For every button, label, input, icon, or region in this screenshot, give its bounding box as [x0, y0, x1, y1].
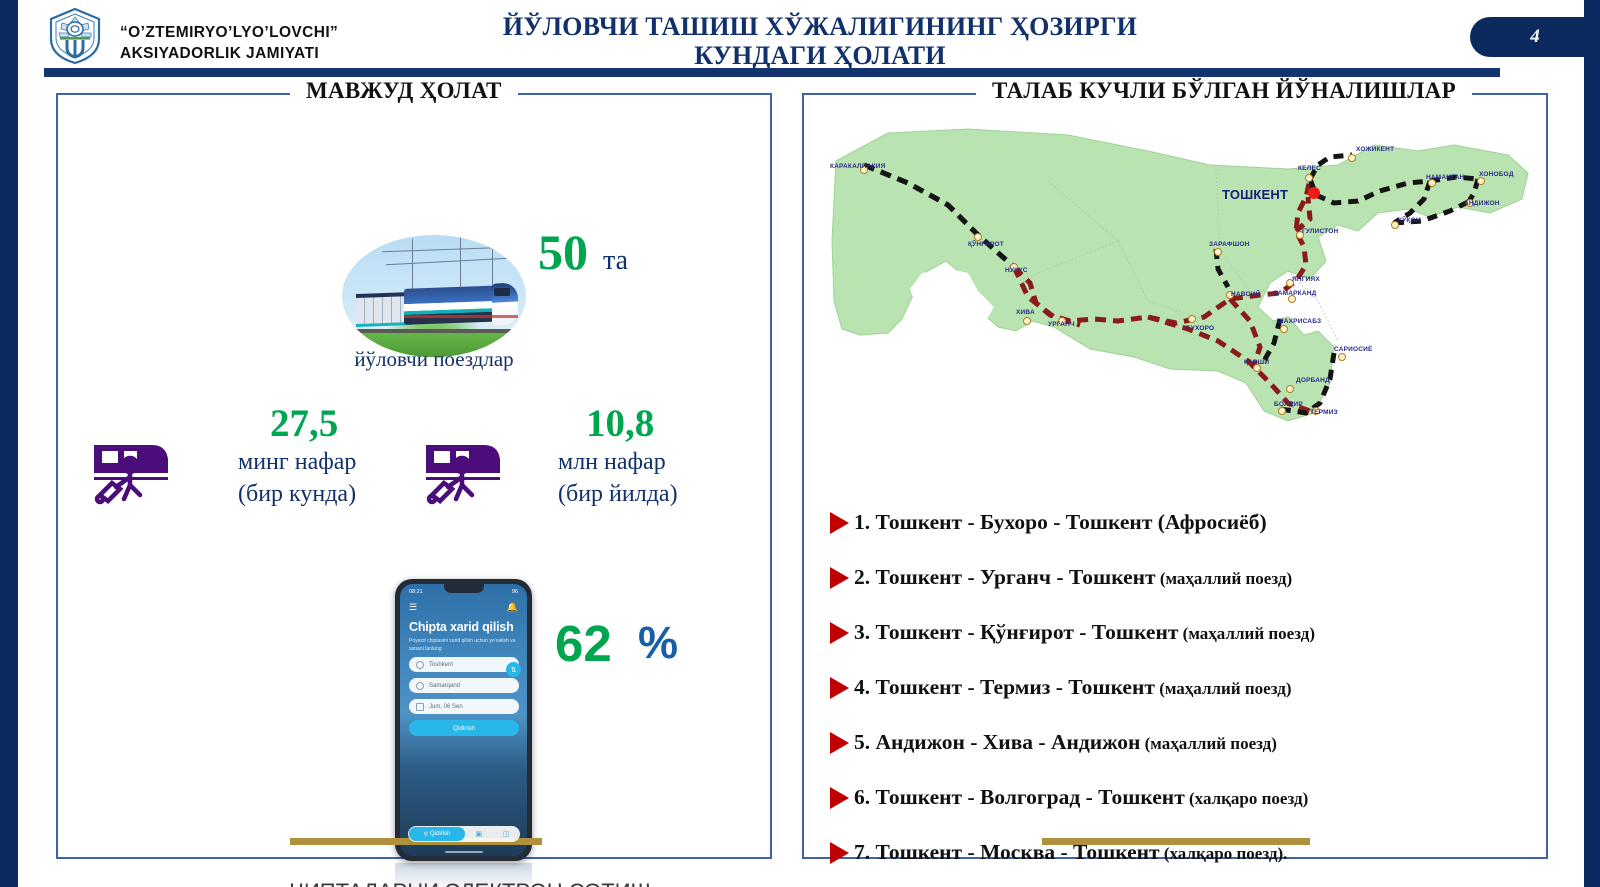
map-dot [1305, 174, 1313, 182]
right-edge-strip [1584, 0, 1600, 887]
map-label-city: БОЛДИР [1274, 401, 1303, 408]
route-note: (маҳаллий поезд) [1155, 679, 1292, 698]
app-title: Chipta xarid qilish [409, 620, 527, 634]
header-divider [44, 68, 1500, 77]
route-item[interactable]: 3. Тошкент - Қўнғирот - Тошкент (маҳалли… [830, 605, 1530, 660]
current-status-panel: МАВЖУД ҲОЛАТ 50 та йўловчи поездлар [56, 93, 772, 859]
triangle-bullet-icon [830, 567, 849, 589]
hamburger-menu-icon[interactable]: ☰ [409, 602, 417, 613]
phone-notch [444, 584, 484, 593]
route-text: 6. Тошкент - Волгоград - Тошкент (халқар… [854, 785, 1308, 810]
map-dot [1214, 248, 1222, 256]
route-text: 2. Тошкент - Урганч - Тошкент (маҳаллий … [854, 565, 1292, 590]
route-note: (маҳаллий поезд) [1178, 624, 1315, 643]
briefcase-icon[interactable]: ◫ [493, 830, 521, 838]
map-label-city: КЕЛЕС [1298, 165, 1321, 172]
map-label-city: БУХОРО [1186, 325, 1214, 332]
right-panel-gold-bar [1042, 838, 1310, 845]
capital-dot-tashkent [1308, 187, 1320, 199]
route-number: 7. [854, 840, 870, 864]
stat-yearly-line2: (бир йилда) [558, 481, 678, 508]
route-number: 3. [854, 620, 870, 644]
date-field[interactable]: Jum, 06 Sen [409, 699, 519, 714]
map-dot [974, 233, 982, 241]
map-dot [1477, 177, 1485, 185]
map-label-city: ЯНГИЯХ [1292, 276, 1320, 283]
map-label-city: САРИОСИЁ [1334, 346, 1373, 353]
route-text: 5. Андижон - Хива - Андижон (маҳаллий по… [854, 730, 1277, 755]
route-note: (маҳаллий поезд) [1156, 569, 1293, 588]
train-count-caption: йўловчи поездлар [284, 347, 584, 372]
route-label: Тошкент - Термиз - Тошкент [870, 675, 1155, 699]
mobile-app-mockup: 08:21 96 ☰ 🔔 Chipta xarid qilish Poyezd … [395, 579, 532, 861]
route-number: 1. [854, 510, 870, 534]
origin-field[interactable]: Toshkent [409, 657, 519, 672]
route-label: Андижон - Хива - Андижон [870, 730, 1140, 754]
map-label-city: ҚАРШИ [1244, 359, 1269, 366]
page-title-line-2: КУНДАГИ ҲОЛАТИ [440, 41, 1200, 70]
map-label-city: ҚЎНҒИРОТ [968, 241, 1004, 248]
high-demand-routes-panel: ТАЛАБ КУЧЛИ БЎЛГАН ЙЎНАЛИШЛАР [802, 93, 1548, 859]
map-dot [1280, 325, 1288, 333]
map-label-city: ГУЛИСТОН [1302, 228, 1338, 235]
route-text: 1. Тошкент - Бухоро - Тошкент (Афросиёб) [854, 510, 1267, 535]
left-panel-title: МАВЖУД ҲОЛАТ [290, 78, 518, 104]
org-line-1: “O’ZTEMIRYO’LYO’LOVCHI” [120, 22, 338, 43]
map-label-city: НАМАНГАН [1426, 174, 1464, 181]
calendar-icon [416, 703, 424, 711]
tab-search[interactable]: ⚲ Qidirish [409, 827, 465, 841]
page-number-badge: 4 [1470, 17, 1600, 57]
origin-value: Toshkent [429, 662, 453, 668]
electronic-sales-caption: ЧИПТАЛАРНИ ЭЛЕКТРОН СОТИШ КЎРСАТКИЧЛАРИ … [164, 877, 776, 887]
route-note: (маҳаллий поезд) [1140, 734, 1277, 753]
route-label: Тошкент - Қўнғирот - Тошкент [870, 620, 1178, 644]
route-number: 5. [854, 730, 870, 754]
railway-shield-logo-icon [44, 6, 106, 66]
map-label-city: КАРАКАЛПАКИЯ [830, 163, 886, 170]
route-note: (халқаро поезд). [1160, 844, 1288, 863]
uzbekistan-railway-map: ТОШКЕНТ КАРАКАЛПАКИЯҚЎНҒИРОТНУКУСХИВАУРГ… [818, 121, 1532, 491]
slide: “O’ZTEMIRYO’LYO’LOVCHI” AKSIYADORLIK JAM… [0, 0, 1600, 887]
org-line-2: AKSIYADORLIK JAMIYATI [120, 43, 338, 64]
route-number: 6. [854, 785, 870, 809]
phone-screen: 08:21 96 ☰ 🔔 Chipta xarid qilish Poyezd … [400, 584, 527, 856]
destination-value: Samarqand [429, 683, 460, 689]
triangle-bullet-icon [830, 732, 849, 754]
location-pin-icon [416, 682, 424, 690]
map-label-city: ЗАРАФШОН [1209, 241, 1250, 248]
passenger-with-luggage-icon [418, 425, 510, 505]
left-edge-strip [0, 0, 18, 887]
search-icon: ⚲ [424, 831, 428, 838]
destination-field[interactable]: Samarqand [409, 678, 519, 693]
map-label-city: ХИВА [1016, 309, 1035, 316]
stat-daily-line2: (бир кунда) [238, 481, 356, 508]
route-item[interactable]: 4. Тошкент - Термиз - Тошкент (маҳаллий … [830, 660, 1530, 715]
electronic-sales-percent-symbol: % [638, 617, 678, 669]
status-time: 08:21 [409, 589, 423, 595]
bell-icon[interactable]: 🔔 [507, 602, 518, 613]
route-list: 1. Тошкент - Бухоро - Тошкент (Афросиёб)… [830, 495, 1530, 880]
map-label-city: ШАХРИСАБЗ [1277, 318, 1321, 325]
train-count-value: 50 [538, 223, 588, 281]
status-battery: 96 [512, 589, 518, 595]
organization-name: “O’ZTEMIRYO’LYO’LOVCHI” AKSIYADORLIK JAM… [120, 22, 338, 65]
slide-header: “O’ZTEMIRYO’LYO’LOVCHI” AKSIYADORLIK JAM… [0, 0, 1600, 72]
map-label-capital: ТОШКЕНТ [1222, 187, 1288, 202]
triangle-bullet-icon [830, 787, 849, 809]
map-label-city: ХОНОБОД [1479, 171, 1514, 178]
map-dot [1348, 154, 1356, 162]
map-dot [1278, 407, 1286, 415]
stat-yearly-value: 10,8 [586, 401, 654, 446]
stat-daily-line1: минг нафар [238, 449, 356, 476]
date-value: Jum, 06 Sen [429, 704, 463, 710]
triangle-bullet-icon [830, 622, 849, 644]
map-label-city: ҚЎҚОН [1398, 217, 1421, 224]
route-note: (халқаро поезд) [1185, 789, 1309, 808]
phone-bottom-nav: ⚲ Qidirish ▣ ◫ [408, 826, 520, 842]
location-pin-icon [416, 661, 424, 669]
map-label-city: САМАРКАНД [1273, 290, 1316, 297]
triangle-bullet-icon [830, 842, 849, 864]
route-label: Тошкент - Бухоро - Тошкент [870, 510, 1152, 534]
map-label-city: ХОЖИКЕНТ [1356, 146, 1394, 153]
caption-line-1: ЧИПТАЛАРНИ ЭЛЕКТРОН СОТИШ [164, 877, 776, 887]
stat-daily-value: 27,5 [270, 401, 338, 446]
ticket-icon[interactable]: ▣ [465, 830, 493, 838]
home-indicator [445, 851, 483, 853]
map-label-city: НУКУС [1005, 267, 1028, 274]
stat-yearly-line1: млн нафар [558, 449, 666, 476]
map-label-city: ТЕРМИЗ [1310, 409, 1338, 416]
passenger-with-luggage-icon [86, 425, 178, 505]
page-title-line-1: ЙЎЛОВЧИ ТАШИШ ХЎЖАЛИГИНИНГ ҲОЗИРГИ [440, 12, 1200, 41]
right-panel-title: ТАЛАБ КУЧЛИ БЎЛГАН ЙЎНАЛИШЛАР [976, 78, 1472, 104]
route-item[interactable]: 5. Андижон - Хива - Андижон (маҳаллий по… [830, 715, 1530, 770]
triangle-bullet-icon [830, 677, 849, 699]
route-text: 4. Тошкент - Термиз - Тошкент (маҳаллий … [854, 675, 1292, 700]
electronic-sales-percent-value: 62 [555, 614, 612, 673]
app-subtitle: Poyezd chiptasini xarid qilish uchun yo‘… [409, 638, 519, 653]
map-label-city: НАВОИЙ [1231, 291, 1261, 298]
route-number: 4. [854, 675, 870, 699]
search-button[interactable]: Qidirish [409, 720, 519, 736]
page-title: ЙЎЛОВЧИ ТАШИШ ХЎЖАЛИГИНИНГ ҲОЗИРГИ КУНДА… [440, 12, 1200, 70]
route-note: (Афросиёб) [1152, 510, 1266, 534]
swap-vertical-icon[interactable]: ⇅ [506, 662, 521, 677]
route-item[interactable]: 6. Тошкент - Волгоград - Тошкент (халқар… [830, 770, 1530, 825]
map-label-city: АНДИЖОН [1464, 200, 1500, 207]
map-dot [1338, 353, 1346, 361]
route-item[interactable]: 2. Тошкент - Урганч - Тошкент (маҳаллий … [830, 550, 1530, 605]
map-dot [1023, 317, 1031, 325]
route-item[interactable]: 7. Тошкент - Москва - Тошкент (халқаро п… [830, 825, 1530, 880]
route-number: 2. [854, 565, 870, 589]
route-label: Тошкент - Урганч - Тошкент [870, 565, 1155, 589]
map-label-city: ДОРБАНД [1296, 377, 1330, 384]
map-dot [1188, 315, 1196, 323]
triangle-bullet-icon [830, 512, 849, 534]
route-item[interactable]: 1. Тошкент - Бухоро - Тошкент (Афросиёб) [830, 495, 1530, 550]
train-count-unit: та [603, 245, 628, 277]
map-dot [1286, 385, 1294, 393]
phone-appbar: ☰ 🔔 [400, 602, 527, 613]
route-label: Тошкент - Волгоград - Тошкент [870, 785, 1185, 809]
tab-search-label: Qidirish [430, 831, 450, 837]
map-label-city: УРГАНЧ [1048, 321, 1075, 328]
passenger-train-photo-icon [342, 235, 526, 357]
route-text: 3. Тошкент - Қўнғирот - Тошкент (маҳалли… [854, 620, 1315, 645]
